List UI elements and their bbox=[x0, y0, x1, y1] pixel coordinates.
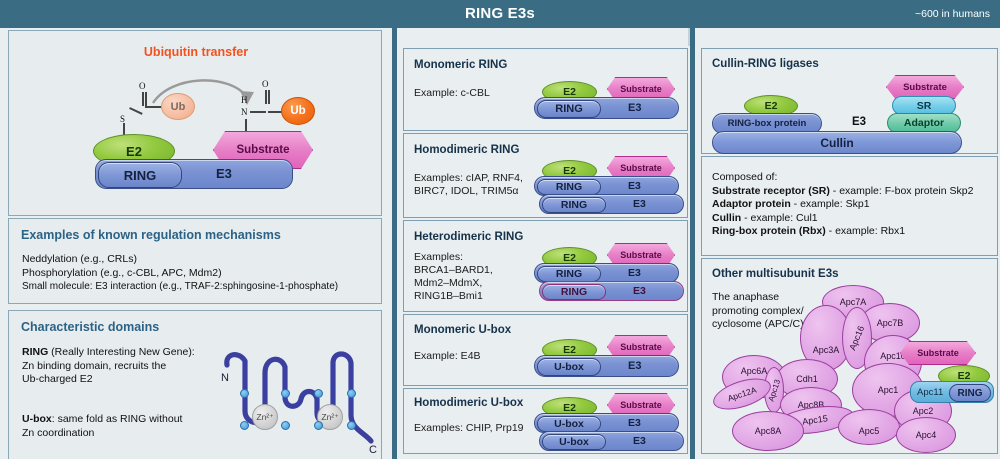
svg-text:C: C bbox=[369, 444, 377, 456]
card5-e3-label-top: E3 bbox=[628, 417, 641, 429]
regulation-line-1: Neddylation (e.g., CRLs) bbox=[22, 253, 378, 267]
right-column: Cullin-RING ligases Substrate SR Adaptor… bbox=[690, 28, 1000, 459]
apc11-label: Apc11 bbox=[917, 387, 943, 398]
card5-ubox-e3-bar-bottom: U-box E3 bbox=[539, 431, 684, 451]
card3-ring-domain-top: RING bbox=[537, 266, 601, 282]
card-heterodimeric-ring-title: Heterodimeric RING bbox=[414, 231, 523, 243]
apc11-ring-module: Apc11 RING bbox=[910, 381, 994, 403]
zn-ion-2-label: Zn²⁺ bbox=[321, 412, 338, 423]
apc-subunit-apc16-label: Apc16 bbox=[848, 324, 867, 351]
card1-substrate-label: Substrate bbox=[620, 84, 662, 94]
card3-example-1: BRCA1–BARD1, bbox=[414, 264, 493, 277]
ring-fold-diagram: N C bbox=[219, 337, 379, 459]
apc-subunit-apc6a-label: Apc6A bbox=[741, 366, 768, 376]
card5-e2-label: E2 bbox=[563, 402, 576, 414]
card1-e3-label: E3 bbox=[628, 102, 641, 114]
card4-substrate-label: Substrate bbox=[620, 342, 662, 352]
card1-ring-domain: RING bbox=[537, 100, 601, 118]
apc-substrate-hex: Substrate bbox=[900, 341, 976, 365]
human-count-note: ~600 in humans bbox=[915, 0, 990, 28]
apc-subunit-apc15-label: Apc15 bbox=[802, 413, 829, 426]
card3-e3-label-bottom: E3 bbox=[633, 285, 646, 297]
card5-e3-label-bottom: E3 bbox=[633, 435, 646, 447]
composition-item-1: Adaptor protein - example: Skp1 bbox=[712, 198, 994, 212]
atom-h-right: H bbox=[241, 95, 248, 105]
crl-cullin-bar: Cullin bbox=[712, 131, 962, 154]
apc-caption-1: promoting complex/ bbox=[712, 305, 812, 319]
crl-adaptor-label: Adaptor bbox=[904, 117, 944, 129]
apc-subunit-apc8a: Apc8A bbox=[732, 411, 804, 451]
zn-coord-node-2 bbox=[240, 421, 249, 430]
ring-desc-line3: Ub-charged E2 bbox=[22, 373, 222, 387]
zn-coord-node-4 bbox=[281, 421, 290, 430]
composition-item-2: Cullin - example: Cul1 bbox=[712, 212, 994, 226]
card2-example-2: BIRC7, IDOL, TRIM5α bbox=[414, 185, 523, 198]
card3-ring-domain-bottom: RING bbox=[542, 284, 606, 300]
card2-substrate-label: Substrate bbox=[620, 163, 662, 173]
apc-ring-label: RING bbox=[958, 388, 983, 399]
card2-ring-e3-bar-bottom: RING E3 bbox=[539, 194, 684, 214]
ub-acceptor-label: Ub bbox=[290, 105, 305, 117]
card5-ubox-e3-bar-top: U-box E3 bbox=[534, 413, 679, 433]
zn-ion-1-label: Zn²⁺ bbox=[256, 412, 273, 423]
card1-ring-e3-bar: RING E3 bbox=[534, 97, 679, 119]
e3-label-main: E3 bbox=[216, 166, 232, 181]
crl-substrate-label: Substrate bbox=[903, 82, 947, 93]
composition-item-0: Substrate receptor (SR) - example: F-box… bbox=[712, 185, 994, 199]
apc-subunit-apc5: Apc5 bbox=[838, 409, 900, 445]
bond-c-o-right bbox=[265, 90, 267, 104]
card2-ring-e3-bar-top: RING E3 bbox=[534, 176, 679, 196]
crl-e3-label: E3 bbox=[852, 116, 866, 128]
composition-item-0-rest: - example: F-box protein Skp2 bbox=[830, 185, 974, 197]
crl-title: Cullin-RING ligases bbox=[712, 58, 819, 70]
zn-coord-node-1 bbox=[240, 389, 249, 398]
card2-e3-label-top: E3 bbox=[628, 180, 641, 192]
crl-ringbox-label: RING-box protein bbox=[728, 118, 807, 129]
zn-coord-node-6 bbox=[314, 421, 323, 430]
e2-label-main: E2 bbox=[126, 144, 142, 159]
card5-ubox-domain-bottom: U-box bbox=[542, 434, 606, 450]
card2-ring-domain-bottom: RING bbox=[542, 197, 606, 213]
card1-ring-label: RING bbox=[555, 103, 583, 115]
apc-substrate-label: Substrate bbox=[917, 348, 959, 358]
ring-e3-bar-main: RING E3 bbox=[95, 159, 293, 189]
regulation-title: Examples of known regulation mechanisms bbox=[21, 228, 281, 242]
ring-label-main: RING bbox=[124, 168, 157, 183]
bond-c-o-left-2 bbox=[145, 92, 147, 106]
ring-desc-line2: Zn binding domain, recruits the bbox=[22, 360, 222, 374]
ubox-acronym-bold: U-box bbox=[22, 413, 52, 425]
apc-subunit-apc12a-label: Apc12A bbox=[726, 385, 757, 404]
card3-example-0: Examples: bbox=[414, 251, 493, 264]
ring-acronym-bold: RING bbox=[22, 346, 48, 358]
apc-subunit-apc4-label: Apc4 bbox=[916, 430, 937, 440]
zn-coord-node-5 bbox=[314, 389, 323, 398]
card3-substrate-label: Substrate bbox=[620, 250, 662, 260]
ring-acronym-rest: (Really Interesting New Gene): bbox=[48, 346, 194, 358]
card-homodimeric-ubox-title: Homodimeric U-box bbox=[414, 397, 523, 409]
card4-e3-label: E3 bbox=[628, 360, 641, 372]
card-heterodimeric-ring: Heterodimeric RING Examples: BRCA1–BARD1… bbox=[403, 220, 688, 312]
card3-ring-label-bottom: RING bbox=[561, 286, 587, 298]
apc-caption-0: The anaphase bbox=[712, 291, 812, 305]
apc-subunit-apc5-label: Apc5 bbox=[859, 426, 880, 436]
card4-example: Example: E4B bbox=[414, 350, 481, 363]
zn-coord-node-8 bbox=[347, 421, 356, 430]
composition-item-2-rest: - example: Cul1 bbox=[741, 212, 817, 224]
card3-example-2: Mdm2–MdmX, bbox=[414, 277, 493, 290]
apc-ring-pill: RING bbox=[949, 384, 991, 402]
card-monomeric-ubox: Monomeric U-box Example: E4B E2 Substrat… bbox=[403, 314, 688, 386]
composition-item-3: Ring-box protein (Rbx) - example: Rbx1 bbox=[712, 225, 994, 239]
apc-subunit-apc4: Apc4 bbox=[896, 417, 956, 453]
apc-subunit-apc7b-label: Apc7B bbox=[877, 318, 904, 328]
composition-item-1-rest: - example: Skp1 bbox=[791, 198, 870, 210]
card3-ring-label-top: RING bbox=[556, 268, 582, 280]
ring-domain-main: RING bbox=[98, 162, 182, 188]
crl-sr-label: SR bbox=[917, 100, 932, 112]
title-bar: RING E3s ~600 in humans bbox=[0, 0, 1000, 28]
middle-column: Monomeric RING Example: c-CBL E2 Substra… bbox=[392, 28, 688, 459]
apc-subunit-apc7a-label: Apc7A bbox=[840, 297, 867, 307]
card-cullin-ring-ligases: Cullin-RING ligases Substrate SR Adaptor… bbox=[701, 48, 998, 154]
card4-ubox-label: U-box bbox=[554, 361, 584, 373]
card3-ring-e3-bar-top: RING E3 bbox=[534, 263, 679, 283]
poster-root: RING E3s ~600 in humans Types of RING E3… bbox=[0, 0, 1000, 459]
bond-c-o-left bbox=[142, 92, 144, 106]
card-monomeric-ring-title: Monomeric RING bbox=[414, 59, 507, 71]
composition-intro: Composed of: bbox=[712, 171, 994, 185]
domains-title: Characteristic domains bbox=[21, 320, 159, 334]
composition-item-2-bold: Cullin bbox=[712, 212, 741, 224]
apc-subunit-apc3a-label: Apc3A bbox=[813, 345, 840, 355]
card5-ubox-label-top: U-box bbox=[554, 418, 584, 430]
regulation-line-3: Small molecule: E3 interaction (e.g., TR… bbox=[22, 280, 378, 294]
composition-item-3-bold: Ring-box protein (Rbx) bbox=[712, 225, 826, 237]
characteristic-domains-card: Characteristic domains RING (Really Inte… bbox=[8, 310, 382, 459]
atom-n-right: N bbox=[241, 107, 248, 117]
ub-acceptor-blob: Ub bbox=[281, 97, 315, 125]
apc-subunit-cdh1-label: Cdh1 bbox=[796, 374, 818, 384]
card2-e3-label-bottom: E3 bbox=[633, 198, 646, 210]
card-crl-composition: Composed of: Substrate receptor (SR) - e… bbox=[701, 156, 998, 256]
ubox-desc-line2: Zn coordination bbox=[22, 427, 232, 441]
card5-ubox-label-bottom: U-box bbox=[559, 436, 589, 448]
left-column: Ubiquitin transfer O S Ub O H N bbox=[0, 28, 390, 459]
card4-ubox-domain: U-box bbox=[537, 358, 601, 376]
card-homodimeric-ubox: Homodimeric U-box Examples: CHIP, Prp19 … bbox=[403, 388, 688, 454]
page-title: RING E3s bbox=[0, 0, 1000, 28]
apc-subunit-apc1-label: Apc1 bbox=[878, 385, 899, 395]
ubiquitin-transfer-card: Ubiquitin transfer O S Ub O H N bbox=[8, 30, 382, 216]
apc-subunit-apc2-label: Apc2 bbox=[913, 406, 934, 416]
composition-item-0-bold: Substrate receptor (SR) bbox=[712, 185, 830, 197]
card-monomeric-ring: Monomeric RING Example: c-CBL E2 Substra… bbox=[403, 48, 688, 131]
apc-subunit-apc8a-label: Apc8A bbox=[755, 426, 782, 436]
ub-donor-blob: Ub bbox=[161, 93, 195, 120]
atom-o-right: O bbox=[262, 79, 269, 89]
ubox-acronym-rest: : same fold as RING without bbox=[52, 413, 183, 425]
bond-c-o-right-2 bbox=[268, 90, 270, 104]
bond-n-c bbox=[250, 111, 266, 113]
zn-coord-node-7 bbox=[347, 389, 356, 398]
card3-example-3: RING1B–Bmi1 bbox=[414, 290, 493, 303]
crl-e2-label: E2 bbox=[765, 100, 778, 112]
substrate-label-main: Substrate bbox=[236, 144, 289, 156]
card-homodimeric-ring: Homodimeric RING Examples: cIAP, RNF4, B… bbox=[403, 133, 688, 218]
card3-e3-label-top: E3 bbox=[628, 267, 641, 279]
bond-s-c bbox=[129, 107, 142, 114]
card2-ring-label-bottom: RING bbox=[561, 199, 587, 211]
card5-example: Examples: CHIP, Prp19 bbox=[414, 422, 524, 435]
card4-ubox-e3-bar: U-box E3 bbox=[534, 355, 679, 377]
card3-ring-e3-bar-bottom: RING E3 bbox=[539, 281, 684, 301]
zn-ion-1: Zn²⁺ bbox=[252, 404, 278, 430]
crl-adaptor-box: Adaptor bbox=[887, 113, 961, 133]
card-monomeric-ring-example: Example: c-CBL bbox=[414, 87, 490, 100]
zn-coord-node-3 bbox=[281, 389, 290, 398]
atom-o-left: O bbox=[139, 81, 146, 91]
card5-ubox-domain-top: U-box bbox=[537, 416, 601, 432]
apc-caption-2: cyclosome (APC/C) bbox=[712, 318, 812, 332]
card-monomeric-ubox-title: Monomeric U-box bbox=[414, 324, 511, 336]
card5-substrate-label: Substrate bbox=[620, 400, 662, 410]
composition-item-3-rest: - example: Rbx1 bbox=[826, 225, 905, 237]
ubiquitin-transfer-title: Ubiquitin transfer bbox=[9, 45, 383, 59]
card2-ring-label-top: RING bbox=[556, 181, 582, 193]
card2-ring-domain-top: RING bbox=[537, 179, 601, 195]
card-homodimeric-ring-title: Homodimeric RING bbox=[414, 144, 519, 156]
composition-item-1-bold: Adaptor protein bbox=[712, 198, 791, 210]
svg-text:N: N bbox=[221, 372, 229, 384]
ub-donor-label: Ub bbox=[171, 101, 186, 113]
regulation-card: Examples of known regulation mechanisms … bbox=[8, 218, 382, 304]
regulation-line-2: Phosphorylation (e.g., c-CBL, APC, Mdm2) bbox=[22, 267, 378, 281]
multisubunit-title: Other multisubunit E3s bbox=[712, 268, 839, 280]
card-multisubunit-e3s: Other multisubunit E3s The anaphase prom… bbox=[701, 258, 998, 454]
crl-cullin-label: Cullin bbox=[820, 136, 853, 150]
card2-example-1: Examples: cIAP, RNF4, bbox=[414, 172, 523, 185]
